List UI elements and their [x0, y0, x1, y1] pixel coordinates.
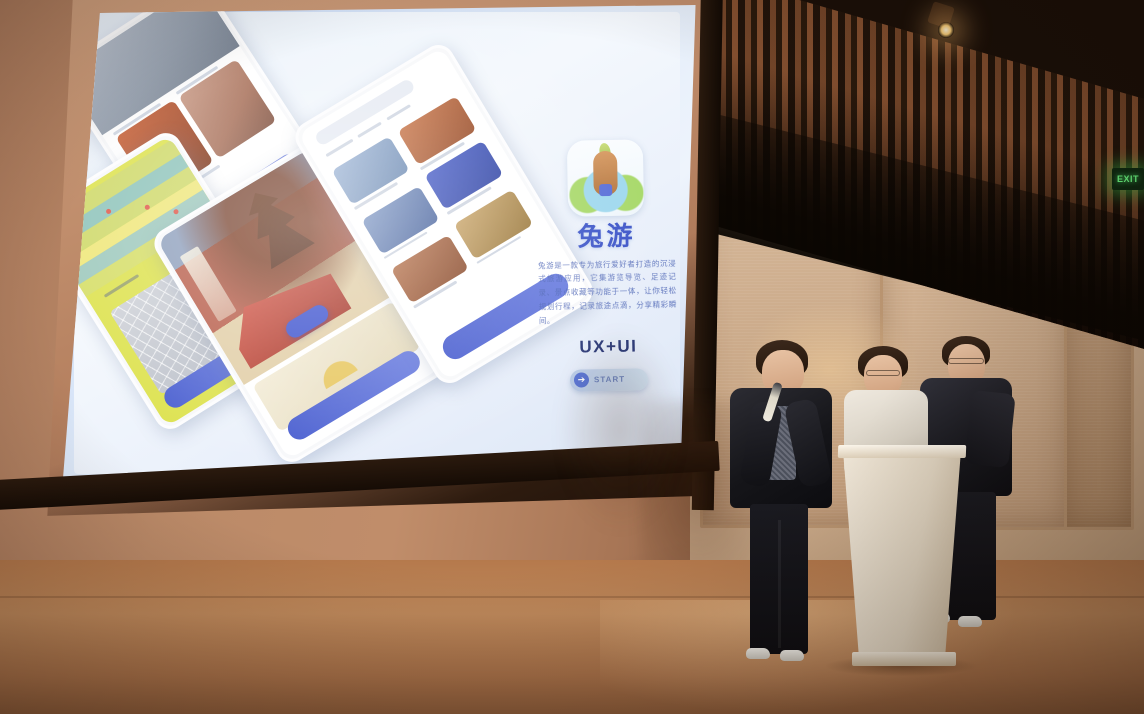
podium	[843, 450, 961, 665]
phone-4-filter-chip	[357, 121, 382, 137]
presenter-left	[716, 340, 836, 680]
phone-4-filter-chip	[386, 104, 411, 120]
ceiling-spotlight-icon	[938, 22, 954, 38]
exit-sign-label: EXIT	[1117, 174, 1139, 184]
podium-top-surface	[838, 445, 966, 458]
wall-shadow-secondary	[560, 330, 680, 530]
shoe	[958, 616, 982, 627]
exit-sign: EXIT	[1112, 168, 1144, 190]
podium-base	[852, 652, 956, 666]
app-description-text: 兔游是一款专为旅行爱好者打造的沉浸式旅游应用，它集游览导览、足迹记录、景点收藏等…	[532, 256, 683, 328]
leg-seam	[778, 520, 781, 648]
app-name-title: 兔游	[531, 221, 681, 252]
glasses-icon	[948, 358, 984, 364]
arm	[964, 390, 1015, 468]
glasses-icon	[866, 370, 900, 376]
shoe	[780, 650, 804, 661]
app-icon-rabbit	[567, 139, 644, 216]
shoe	[746, 648, 770, 659]
backpack-icon	[599, 184, 612, 196]
presentation-scene-photo: EXIT	[0, 0, 1144, 714]
